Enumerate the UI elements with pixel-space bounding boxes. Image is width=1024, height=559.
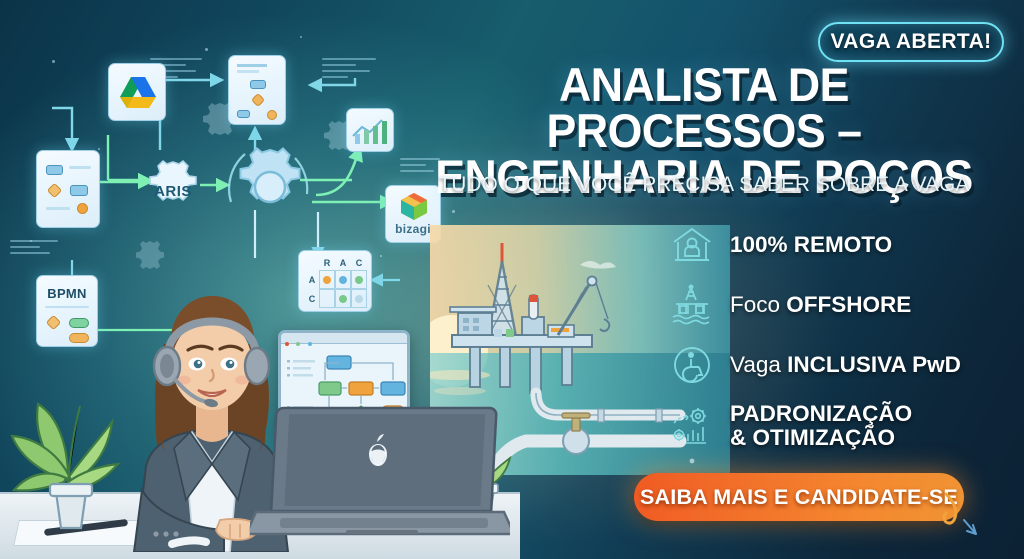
feature-bold2-optimization: & OTIMIZAÇÃO xyxy=(730,425,895,450)
title-line-1: ANALISTA DE PROCESSOS – xyxy=(419,62,989,154)
feature-label-optimization: PADRONIZAÇÃO& OTIMIZAÇÃO xyxy=(730,402,912,450)
analytics-chart-card xyxy=(346,108,394,152)
aris-label: ARIS xyxy=(154,183,192,200)
decorative-gear-icon xyxy=(196,100,244,148)
bpmn-label: BPMN xyxy=(37,286,97,301)
central-gear-icon xyxy=(228,145,312,229)
feature-bold-inclusive: INCLUSIVA PwD xyxy=(787,352,961,377)
gears-chart-icon xyxy=(668,403,716,449)
feature-list: 100% REMOTO Foco OFFSHORE xyxy=(668,222,1008,464)
oil-platform-icon xyxy=(668,282,716,328)
feature-bold-offshore: OFFSHORE xyxy=(786,292,911,317)
job-ad-banner: BPMN ARIS xyxy=(0,0,1024,559)
laptop xyxy=(250,400,510,550)
feature-item-remote: 100% REMOTO xyxy=(668,222,1008,268)
feature-label-inclusive: Vaga INCLUSIVA PwD xyxy=(730,353,961,377)
process-notepad-card xyxy=(36,150,100,228)
status-badge-label: VAGA ABERTA! xyxy=(830,30,991,54)
feature-label-remote: 100% REMOTO xyxy=(730,233,892,257)
feature-light-offshore: Foco xyxy=(730,292,786,317)
feature-light-inclusive: Vaga xyxy=(730,352,787,377)
feature-item-inclusive: Vaga INCLUSIVA PwD xyxy=(668,342,1008,388)
status-badge: VAGA ABERTA! xyxy=(818,22,1004,62)
aris-logo: ARIS xyxy=(140,158,206,224)
apply-button-label: SAIBA MAIS E CANDIDATE-SE xyxy=(640,485,958,510)
sparkle-dot xyxy=(452,210,455,213)
feature-bold-optimization: PADRONIZAÇÃO xyxy=(730,401,912,426)
page-subtitle: TUDO O QUE VOCÊ PRECISA SABER SOBRE A VA… xyxy=(416,172,992,197)
google-drive-logo xyxy=(108,63,166,121)
feature-item-optimization: PADRONIZAÇÃO& OTIMIZAÇÃO xyxy=(668,402,1008,450)
bpmn-note: BPMN xyxy=(36,275,98,347)
apply-button[interactable]: SAIBA MAIS E CANDIDATE-SE xyxy=(634,473,964,521)
feature-label-offshore: Foco OFFSHORE xyxy=(730,293,911,317)
home-office-icon xyxy=(668,222,716,268)
feature-item-offshore: Foco OFFSHORE xyxy=(668,282,1008,328)
feature-bold-remote: 100% REMOTO xyxy=(730,232,892,257)
accessibility-icon xyxy=(668,342,716,388)
swoosh-accent-icon xyxy=(940,480,1010,550)
